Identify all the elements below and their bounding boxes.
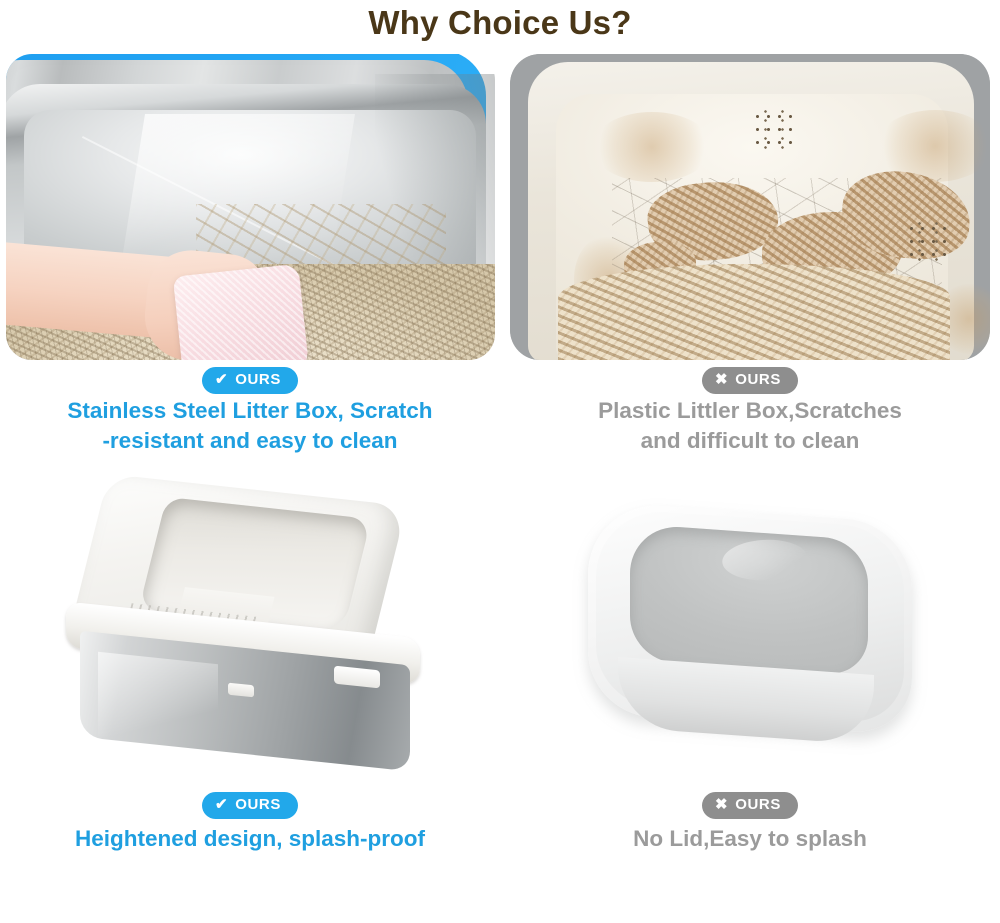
check-icon: ✔ [215, 796, 228, 814]
theirs-badge: ✖ OURS [702, 792, 798, 819]
stain-mark [592, 112, 712, 182]
ours-badge: ✔ OURS [202, 367, 298, 394]
comparison-cell-top-left: ✔ OURS Stainless Steel Litter Box, Scrat… [0, 54, 500, 472]
photo-plastic-box-dirty [510, 54, 990, 360]
comparison-cell-bottom-right: ✖ OURS No Lid,Easy to splash [500, 472, 1000, 923]
ours-badge-label: OURS [235, 796, 281, 814]
caption-line-2: -resistant and easy to clean [0, 426, 500, 456]
caption-bottom-left: Heightened design, splash-proof [0, 824, 500, 854]
comparison-cell-top-right: ✖ OURS Plastic Littler Box,Scratches and… [500, 54, 1000, 472]
litter-pile [558, 264, 950, 360]
product-wrap-theirs [572, 488, 932, 778]
caption-bottom-right: No Lid,Easy to splash [500, 824, 1000, 854]
caption-line-1: No Lid,Easy to splash [500, 824, 1000, 854]
product-wrap-ours [58, 472, 438, 782]
caption-top-right: Plastic Littler Box,Scratches and diffic… [500, 396, 1000, 456]
badge-row-bottom-right: ✖ OURS [500, 792, 1000, 819]
cross-icon: ✖ [715, 371, 728, 389]
ours-badge: ✔ OURS [202, 792, 298, 819]
cross-icon: ✖ [715, 796, 728, 814]
pink-cleaning-cloth [172, 264, 308, 360]
ours-badge-label: OURS [235, 371, 281, 389]
photo-stainless-steel-cleaning [6, 54, 495, 360]
theirs-badge-label: OURS [735, 796, 781, 814]
comparison-cell-bottom-left: ✔ OURS Heightened design, splash-proof [0, 472, 500, 923]
debris-specks [906, 222, 950, 266]
comparison-grid: ✔ OURS Stainless Steel Litter Box, Scrat… [0, 54, 1000, 923]
check-icon: ✔ [215, 371, 228, 389]
caption-line-1: Heightened design, splash-proof [0, 824, 500, 854]
infographic-page: Why Choice Us? ✔ OURS [0, 0, 1000, 923]
theirs-badge: ✖ OURS [702, 367, 798, 394]
badge-row-bottom-left: ✔ OURS [0, 792, 500, 819]
badge-row-top-right: ✖ OURS [500, 367, 1000, 394]
product-heightened-litter-box [58, 472, 438, 782]
theirs-badge-label: OURS [735, 371, 781, 389]
product-open-litter-pan [572, 488, 932, 778]
badge-row-top-left: ✔ OURS [0, 367, 500, 394]
pan-highlight [98, 652, 218, 749]
page-title: Why Choice Us? [0, 2, 1000, 44]
caption-line-1: Stainless Steel Litter Box, Scratch [0, 396, 500, 426]
caption-line-1: Plastic Littler Box,Scratches [500, 396, 1000, 426]
debris-specks [752, 110, 798, 152]
caption-line-2: and difficult to clean [500, 426, 1000, 456]
caption-top-left: Stainless Steel Litter Box, Scratch -res… [0, 396, 500, 456]
